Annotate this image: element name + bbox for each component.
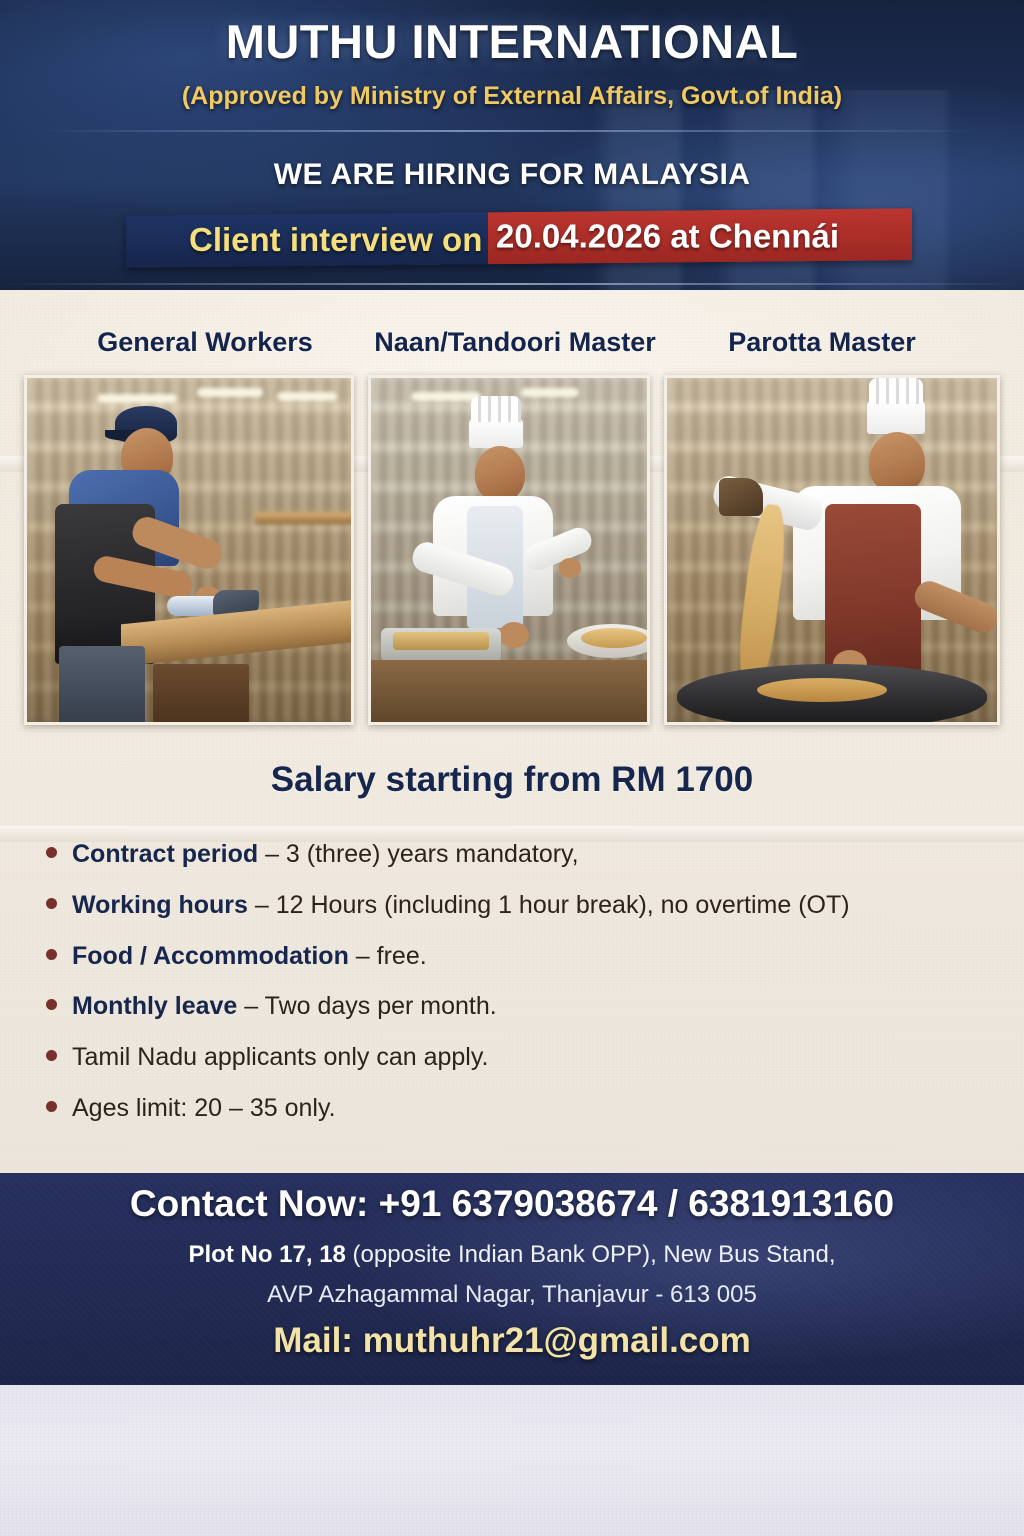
bullet-dot-icon <box>46 1050 57 1061</box>
photo1-background-table <box>255 512 354 524</box>
interview-banner: Client interview on 20.04.2026 at Chenná… <box>126 208 912 268</box>
photo3-pouring-vessel <box>719 478 763 516</box>
salary-headline: Salary starting from RM 1700 <box>0 760 1024 800</box>
poster-header: MUTHU INTERNATIONAL (Approved by Ministr… <box>0 0 1024 290</box>
condition-text: Monthly leave – Two days per month. <box>72 992 497 1021</box>
role-titles-row: General Workers Naan/Tandoori Master Par… <box>0 327 1024 358</box>
photo1-wooden-stool <box>153 664 249 725</box>
mail-label: Mail: <box>273 1321 353 1360</box>
mail-address[interactable]: muthuhr21@gmail.com <box>363 1321 751 1360</box>
condition-detail: Ages limit: 20 – 35 only. <box>72 1094 336 1122</box>
company-title: MUTHU INTERNATIONAL <box>0 14 1024 69</box>
photo3-food-in-wok <box>757 678 887 702</box>
photo2-ceiling-light <box>411 392 481 401</box>
photo2-naan-bread <box>393 632 489 650</box>
condition-detail: – free. <box>349 942 427 970</box>
photo2-chef-head <box>475 446 525 502</box>
condition-label: Food / Accommodation <box>72 942 349 970</box>
role-title-general-workers: General Workers <box>40 327 370 358</box>
address-line-2: AVP Azhagammal Nagar, Thanjavur - 613 00… <box>0 1281 1024 1309</box>
list-item: Monthly leave – Two days per month. <box>46 992 1004 1021</box>
bullet-dot-icon <box>46 898 57 909</box>
mail-line: Mail: muthuhr21@gmail.com <box>0 1321 1024 1361</box>
photo2-chef-hand <box>499 622 529 648</box>
condition-text: Food / Accommodation – free. <box>72 942 427 971</box>
interview-prefix-text: Client interview on <box>189 221 482 259</box>
photo2-chef-toque <box>469 418 523 448</box>
list-item: Working hours – 12 Hours (including 1 ho… <box>46 891 1004 920</box>
conditions-list: Contract period – 3 (three) years mandat… <box>46 840 1004 1145</box>
photo2-ceiling-light <box>521 388 579 397</box>
photo1-worker-jeans <box>59 646 145 725</box>
bullet-dot-icon <box>46 949 57 960</box>
address-line-1-rest: (opposite Indian Bank OPP), New Bus Stan… <box>346 1241 836 1268</box>
photo1-ceiling-light <box>197 388 263 397</box>
condition-label: Working hours <box>72 891 248 919</box>
recruitment-poster: MUTHU INTERNATIONAL (Approved by Ministr… <box>0 0 1024 1536</box>
bottom-blank-paper <box>0 1385 1024 1536</box>
condition-label: Contract period <box>72 840 258 868</box>
photo2-plated-food <box>581 628 647 648</box>
bullet-dot-icon <box>46 1101 57 1112</box>
bottom-paper-grain <box>0 1385 1024 1536</box>
photo1-ceiling-light <box>97 394 177 403</box>
list-item: Ages limit: 20 – 35 only. <box>46 1094 1004 1123</box>
contact-line: Contact Now: +91 6379038674 / 6381913160 <box>0 1183 1024 1225</box>
contact-label: Contact Now: <box>130 1183 368 1224</box>
interview-banner-left: Client interview on <box>126 212 488 267</box>
header-bottom-edge-glow <box>0 283 1024 285</box>
interview-date-place-text: 20.04.2026 at Chennái <box>496 218 839 256</box>
poster-footer: Contact Now: +91 6379038674 / 6381913160… <box>0 1173 1024 1385</box>
condition-text: Ages limit: 20 – 35 only. <box>72 1094 336 1123</box>
photo-parotta-master <box>664 375 1000 725</box>
interview-banner-right: 20.04.2026 at Chennái <box>488 208 912 264</box>
condition-text: Tamil Nadu applicants only can apply. <box>72 1043 488 1072</box>
address-plot-number: Plot No 17, 18 <box>189 1241 346 1268</box>
photo2-prep-counter <box>371 660 650 725</box>
list-item: Tamil Nadu applicants only can apply. <box>46 1043 1004 1072</box>
role-title-naan-tandoori-master: Naan/Tandoori Master <box>370 327 660 358</box>
photo2-chef-hand <box>559 558 581 578</box>
contact-phone-numbers[interactable]: +91 6379038674 / 6381913160 <box>379 1183 894 1224</box>
role-title-parotta-master: Parotta Master <box>660 327 984 358</box>
condition-label: Monthly leave <box>72 992 237 1020</box>
bullet-dot-icon <box>46 847 57 858</box>
condition-text: Working hours – 12 Hours (including 1 ho… <box>72 891 850 920</box>
photo1-ceiling-light <box>277 392 337 401</box>
condition-detail: – 12 Hours (including 1 hour break), no … <box>248 891 850 919</box>
approval-subtitle: (Approved by Ministry of External Affair… <box>0 82 1024 111</box>
role-photos-row <box>24 375 1000 725</box>
photo3-chef-toque <box>867 400 925 434</box>
photo3-chef-head <box>869 432 925 494</box>
photo-naan-tandoori-master <box>368 375 650 725</box>
list-item: Food / Accommodation – free. <box>46 942 1004 971</box>
address-line-1: Plot No 17, 18 (opposite Indian Bank OPP… <box>0 1241 1024 1269</box>
hiring-headline: WE ARE HIRING FOR MALAYSIA <box>0 158 1024 192</box>
photo-general-worker <box>24 375 354 725</box>
condition-detail: – Two days per month. <box>237 992 496 1020</box>
condition-detail: Tamil Nadu applicants only can apply. <box>72 1043 488 1071</box>
condition-text: Contract period – 3 (three) years mandat… <box>72 840 579 869</box>
bullet-dot-icon <box>46 999 57 1010</box>
header-glow-streak <box>41 130 983 132</box>
condition-detail: – 3 (three) years mandatory, <box>258 840 579 868</box>
list-item: Contract period – 3 (three) years mandat… <box>46 840 1004 869</box>
